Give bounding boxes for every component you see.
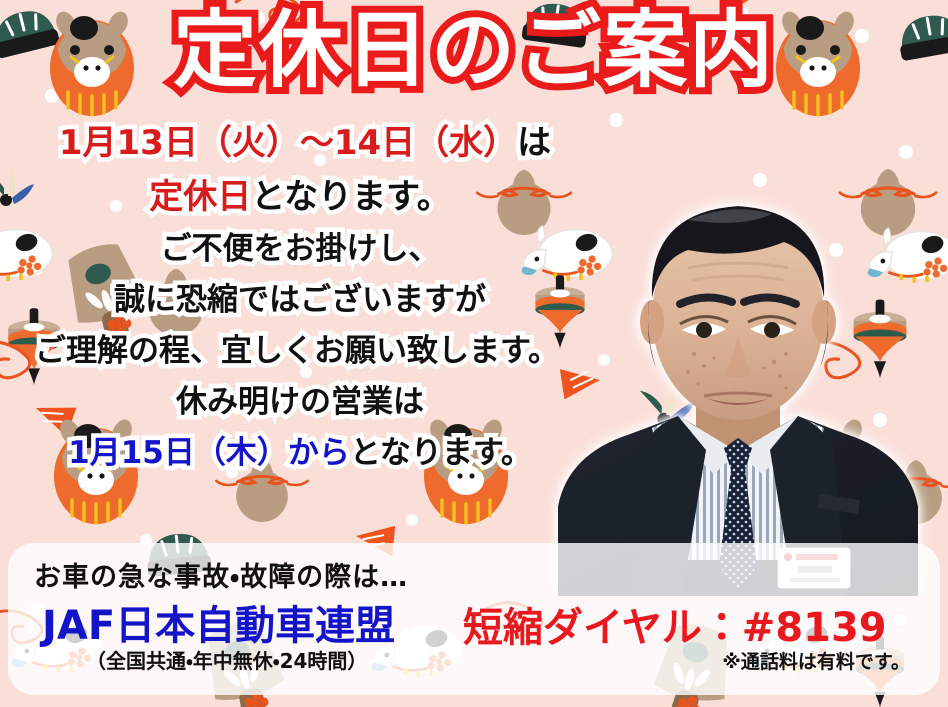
body-line-1: 1月13日（火）～14日（水）は	[10, 126, 600, 160]
body-line-7: 1月15日（木）からとなります。	[0, 438, 600, 469]
announcement-body: 1月13日（火）～14日（水）は 定休日となります。 ご不便をお掛けし、 誠に恐…	[0, 126, 600, 489]
body-line-4: 誠に恐縮ではございますが	[0, 285, 600, 316]
jaf-contact-panel: お車の急な事故・故障の際は… JAF日本自動車連盟 （全国共通・年中無休・24時…	[8, 543, 940, 695]
closure-dates: 1月13日（火）～14日（水）	[59, 123, 517, 163]
closure-announcement-poster: 定休日のご案内	[0, 0, 948, 707]
reopen-date: 1月15日（木）から	[68, 435, 350, 471]
jaf-organization-name: JAF日本自動車連盟	[42, 593, 395, 651]
body-line-3: ご不便をお掛けし、	[0, 234, 600, 265]
jaf-availability-note: （全国共通・年中無休・24時間）	[86, 645, 367, 674]
page-title: 定休日のご案内	[173, 6, 775, 95]
poster-title-area: 定休日のご案内	[0, 6, 948, 95]
closure-word: 定休日	[149, 177, 251, 217]
body-line-2: 定休日となります。	[0, 180, 600, 214]
jaf-panel-heading: お車の急な事故・故障の際は…	[34, 555, 408, 594]
jaf-short-dial-number: 短縮ダイヤル：#8139	[463, 595, 887, 653]
body-line-5: ご理解の程、宜しくお願い致します。	[0, 336, 600, 367]
body-line-6: 休み明けの営業は	[0, 387, 600, 418]
call-charge-note: ※通話料は有料です。	[722, 647, 910, 674]
